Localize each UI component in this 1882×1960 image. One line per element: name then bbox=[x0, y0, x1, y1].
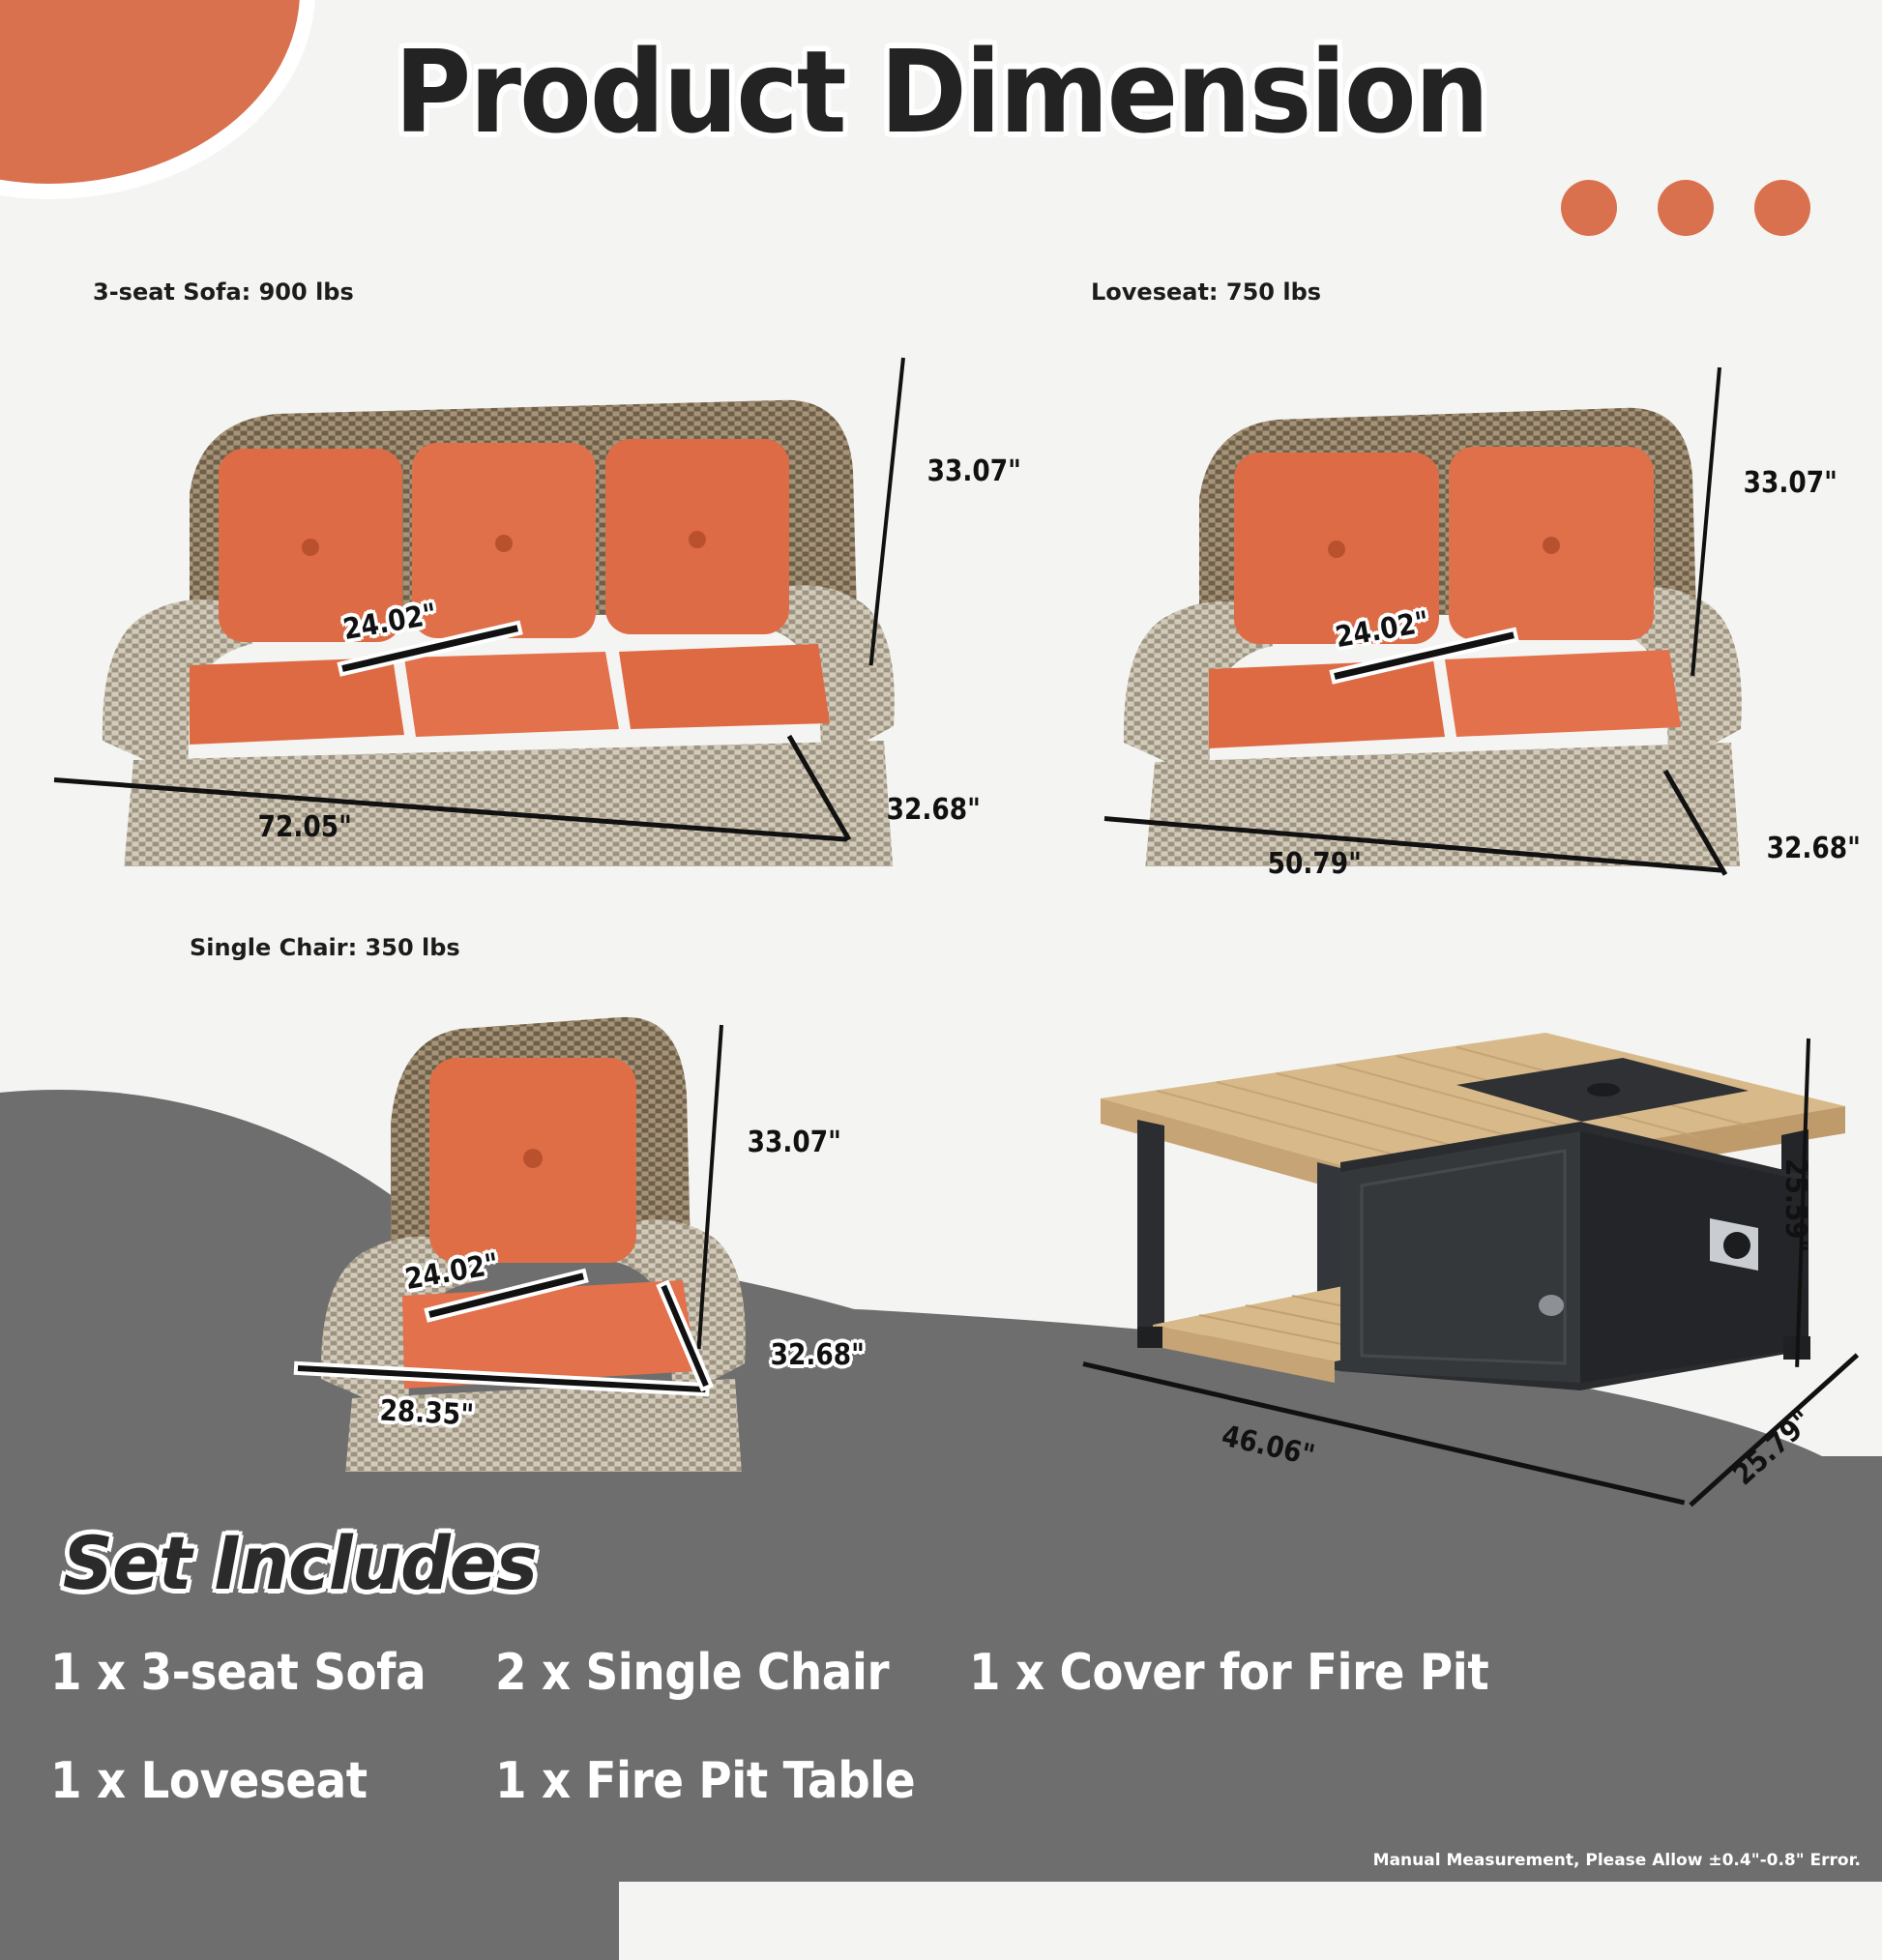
dot-2-icon bbox=[1658, 180, 1714, 236]
dot-3-icon bbox=[1754, 180, 1810, 236]
sofa-depth-text: 32.68" bbox=[887, 793, 981, 827]
product-panel-loveseat: Loveseat: 750 lbs 24.02" 33.07" 50.79" bbox=[1091, 278, 1855, 917]
sofa-illustration bbox=[44, 325, 1012, 866]
set-includes-title: Set Includes bbox=[63, 1520, 537, 1606]
list-item: 1 x Fire Pit Table bbox=[495, 1752, 922, 1810]
product-panel-firepit: 25.59" 46.06" 25.79" bbox=[1091, 977, 1865, 1576]
product-panel-sofa: 3-seat Sofa: 900 lbs bbox=[93, 278, 1060, 897]
sofa-height-text: 33.07" bbox=[927, 454, 1021, 488]
list-item-spacer bbox=[969, 1752, 1744, 1810]
chair-depth-text: 32.68" bbox=[771, 1338, 865, 1372]
sofa-label: 3-seat Sofa: 900 lbs bbox=[93, 278, 354, 306]
loveseat-label: Loveseat: 750 lbs bbox=[1091, 278, 1321, 306]
set-includes-list: 1 x 3-seat Sofa 2 x Single Chair 1 x Cov… bbox=[50, 1644, 1830, 1810]
list-item: 1 x 3-seat Sofa bbox=[50, 1644, 451, 1702]
measurement-disclaimer: Manual Measurement, Please Allow ±0.4"-0… bbox=[1373, 1851, 1861, 1870]
loveseat-depth-text: 32.68" bbox=[1767, 832, 1861, 865]
loveseat-width-text: 50.79" bbox=[1268, 847, 1362, 881]
sofa-width-text: 72.05" bbox=[258, 810, 352, 844]
chair-illustration bbox=[277, 969, 818, 1472]
product-panel-chair: Single Chair: 350 lbs 24.02" 33.07" 28.3… bbox=[190, 934, 905, 1572]
chair-height-text: 33.07" bbox=[748, 1126, 841, 1159]
list-item: 1 x Cover for Fire Pit bbox=[969, 1644, 1744, 1702]
firepit-height-text: 25.59" bbox=[1779, 1158, 1812, 1252]
list-item: 2 x Single Chair bbox=[495, 1644, 922, 1702]
page-title: Product Dimension bbox=[75, 25, 1807, 159]
dot-1-icon bbox=[1561, 180, 1617, 236]
firepit-table-illustration bbox=[1081, 992, 1855, 1418]
decorative-dots bbox=[1561, 180, 1810, 236]
loveseat-height-text: 33.07" bbox=[1744, 466, 1838, 500]
infographic-canvas: Product Dimension 3-seat Sofa: 900 lbs bbox=[0, 0, 1882, 1882]
firepit-width-text: 46.06" bbox=[1219, 1419, 1318, 1474]
list-item: 1 x Loveseat bbox=[50, 1752, 451, 1810]
chair-label: Single Chair: 350 lbs bbox=[190, 934, 460, 961]
chair-width-text: 28.35" bbox=[379, 1393, 475, 1432]
